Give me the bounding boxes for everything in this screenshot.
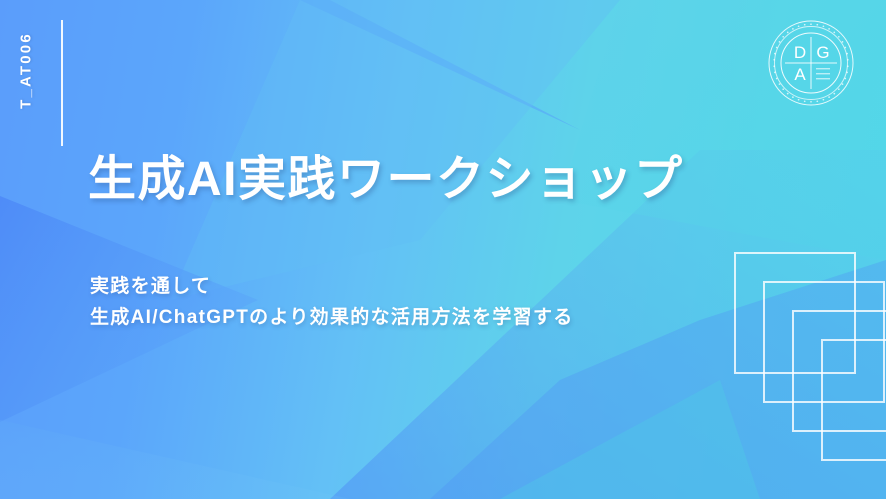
decor-wedge-upper-mid — [170, 0, 620, 300]
code-divider-line — [61, 20, 63, 146]
logo-letter-g: G — [816, 43, 829, 62]
subtitle-line-2: 生成AI/ChatGPTのより効果的な活用方法を学習する — [90, 303, 574, 334]
logo-letter-a: A — [794, 65, 806, 84]
subtitle-line-1: 実践を通して — [90, 272, 574, 303]
decor-wedge-top — [0, 0, 580, 130]
slide-canvas: T_AT006 — [0, 0, 886, 499]
decor-sliver-bottom — [500, 380, 760, 499]
course-code-text: T_AT006 — [18, 7, 35, 135]
slide-subtitle: 実践を通して 生成AI/ChatGPTのより効果的な活用方法を学習する — [90, 272, 574, 334]
logo-caption-lines — [816, 68, 830, 79]
decor-wedge-lower-left — [0, 420, 350, 499]
course-code-label: T_AT006 — [0, 18, 62, 146]
decor-square-4 — [821, 339, 886, 461]
slide-title: 生成AI実践ワークショップ — [88, 152, 684, 207]
decorative-squares — [734, 252, 886, 432]
dga-logo: D G A — [768, 20, 854, 106]
logo-letter-d: D — [794, 43, 806, 62]
